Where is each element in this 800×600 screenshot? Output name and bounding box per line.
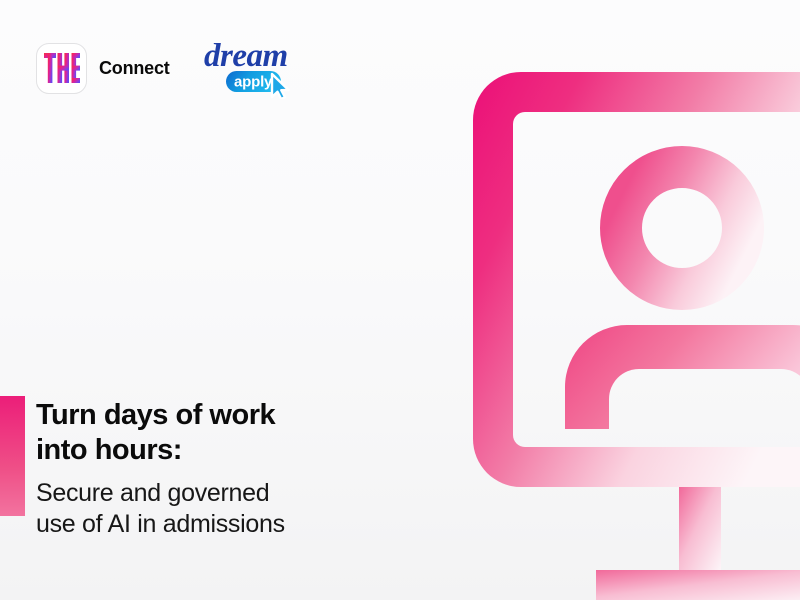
the-logo-mark[interactable] (36, 43, 87, 94)
message-block: Turn days of work into hours: Secure and… (0, 396, 285, 540)
the-wordmark-icon (44, 53, 80, 83)
dreamapply-logo[interactable]: dream apply (202, 37, 298, 99)
the-connect-label: Connect (99, 59, 170, 77)
monitor-frame (440, 50, 800, 510)
person-head-ring (621, 167, 743, 289)
message-copy: Turn days of work into hours: Secure and… (36, 396, 285, 540)
logo-lockup: Connect dream apply (36, 38, 298, 98)
monitor-stand-neck (679, 487, 721, 572)
dreamapply-dream-text: dream (204, 38, 288, 74)
person-shoulders (540, 300, 800, 530)
accent-bar (0, 396, 25, 516)
subheadline: Secure and governed use of AI in admissi… (36, 478, 285, 540)
monitor-stand-base (596, 570, 800, 600)
banner-canvas: Connect dream apply (0, 0, 800, 600)
dreamapply-apply-text: apply (234, 74, 273, 91)
headline: Turn days of work into hours: (36, 398, 285, 468)
